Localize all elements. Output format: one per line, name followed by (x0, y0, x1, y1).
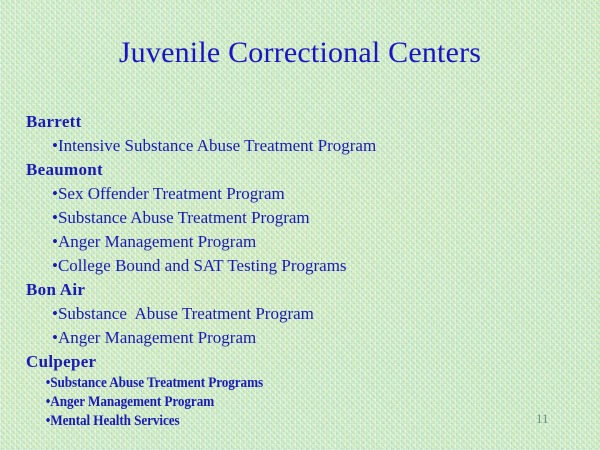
facility-name: Beaumont (0, 158, 600, 182)
bullet-list: •Substance Abuse Treatment Program•Anger… (0, 302, 600, 350)
bullet-list: •Intensive Substance Abuse Treatment Pro… (0, 134, 600, 158)
facility-section: Barrett•Intensive Substance Abuse Treatm… (0, 110, 600, 158)
page-number: 11 (536, 411, 549, 426)
page-title: Juvenile Correctional Centers (0, 36, 600, 70)
bullet-list: •Substance Abuse Treatment Programs•Ange… (0, 374, 600, 431)
bullet-item: •Sex Offender Treatment Program (0, 182, 600, 206)
facility-section: Beaumont•Sex Offender Treatment Program•… (0, 158, 600, 278)
facility-section: Culpeper•Substance Abuse Treatment Progr… (0, 350, 600, 431)
bullet-item: •Anger Management Program (0, 326, 600, 350)
bullet-item: •Mental Health Services (0, 412, 528, 431)
bullet-item: •College Bound and SAT Testing Programs (0, 254, 600, 278)
bullet-item: •Substance Abuse Treatment Program (0, 206, 600, 230)
facility-name: Barrett (0, 110, 600, 134)
facility-name: Culpeper (0, 350, 600, 374)
facility-list: Barrett•Intensive Substance Abuse Treatm… (0, 110, 600, 431)
presentation-slide: Juvenile Correctional Centers Barrett•In… (0, 0, 600, 450)
facility-section: Bon Air•Substance Abuse Treatment Progra… (0, 278, 600, 350)
facility-name: Bon Air (0, 278, 600, 302)
bullet-item: •Substance Abuse Treatment Program (0, 302, 600, 326)
bullet-item: •Intensive Substance Abuse Treatment Pro… (0, 134, 600, 158)
slide-content: Juvenile Correctional Centers Barrett•In… (0, 0, 600, 450)
bullet-item: •Substance Abuse Treatment Programs (0, 374, 528, 393)
bullet-item: •Anger Management Program (0, 393, 528, 412)
bullet-list: •Sex Offender Treatment Program•Substanc… (0, 182, 600, 278)
bullet-item: •Anger Management Program (0, 230, 600, 254)
